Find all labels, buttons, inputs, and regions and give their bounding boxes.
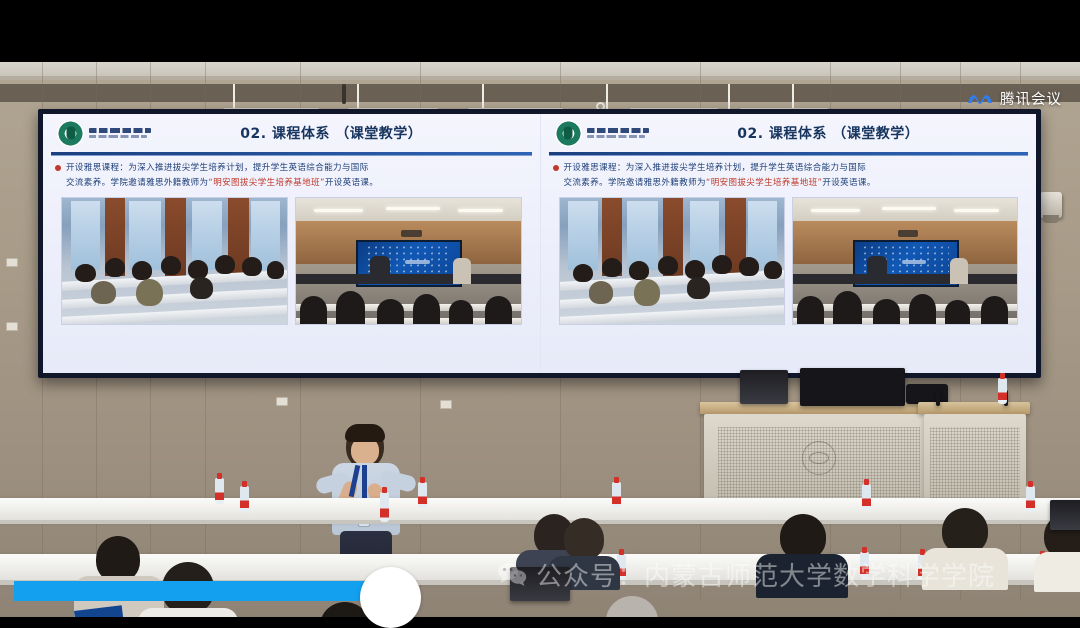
desk-equipment	[906, 384, 948, 404]
water-bottle	[998, 378, 1007, 404]
control-desk-front	[704, 414, 934, 506]
bullet-item: 开设雅思课程：为深入推进拔尖学生培养计划，提升学生英语综合能力与国际 交流素养。…	[553, 161, 1025, 191]
podium-top	[918, 402, 1030, 414]
hanging-microphone	[342, 84, 346, 104]
title-divider-thin	[51, 155, 532, 156]
bullet-line-2-highlight: “明安图拔尖学生培养基地班”	[706, 178, 822, 188]
video-progress-bar[interactable]	[14, 581, 380, 601]
audience-member	[590, 596, 674, 617]
water-bottle	[612, 482, 621, 508]
university-name-mark	[89, 128, 151, 138]
slide-body: 开设雅思课程：为深入推进拔尖学生培养计划，提升学生英语综合能力与国际 交流素养。…	[43, 152, 540, 325]
slide-body: 开设雅思课程：为深入推进拔尖学生培养计划，提升学生英语综合能力与国际 交流素养。…	[541, 152, 1037, 325]
wall-outlet	[6, 258, 18, 267]
letterbox-top	[0, 0, 1080, 62]
bullet-line-2-highlight: “明安图拔尖学生培养基地班”	[208, 178, 324, 188]
bullet-dot-icon	[55, 165, 61, 171]
photo-lecture-hall-screen	[295, 197, 522, 325]
watermark-text: 公众号：内蒙古师范大学数学科学学院	[536, 556, 995, 593]
lectern-podium	[924, 414, 1026, 510]
bullet-line-2b: 开设英语课。	[822, 178, 875, 188]
water-bottle	[240, 486, 249, 512]
slide-right: 02. 课程体系 （课堂教学） 开设雅思课程：为深入推进拔尖学生培养计划，提升学…	[540, 114, 1037, 373]
water-bottle	[1026, 486, 1035, 512]
tencent-meeting-badge: 腾讯会议	[967, 88, 1062, 109]
bullet-item: 开设雅思课程：为深入推进拔尖学生培养计划，提升学生英语综合能力与国际 交流素养。…	[55, 161, 528, 191]
tencent-meeting-logo-icon	[967, 91, 993, 106]
water-bottle	[862, 484, 871, 510]
bullet-line-2a: 交流素养。学院邀请雅思外籍教师为	[66, 178, 208, 188]
university-logo	[555, 120, 649, 147]
slide-photo-row	[55, 197, 528, 325]
photo-lecture-hall-screen	[792, 197, 1018, 325]
video-progress-knob[interactable]	[360, 567, 421, 628]
slide-header: 02. 课程体系 （课堂教学）	[43, 114, 540, 152]
wall-outlet	[6, 322, 18, 331]
wall-shadow-strip	[0, 84, 1080, 102]
wall-outlet	[276, 397, 288, 406]
slide-title: 02. 课程体系 （课堂教学）	[151, 123, 540, 143]
water-bottle	[418, 482, 427, 508]
podium-mic	[936, 390, 940, 406]
slide-photo-row	[553, 197, 1025, 325]
title-divider-thin	[549, 155, 1029, 156]
slide-left: 02. 课程体系 （课堂教学） 开设雅思课程：为深入推进拔尖学生培养计划，提升学…	[43, 114, 540, 373]
tencent-meeting-label: 腾讯会议	[1000, 88, 1062, 109]
slide-title: 02. 课程体系 （课堂教学）	[649, 123, 1037, 143]
university-name-mark	[587, 128, 649, 138]
bullet-line-1: 开设雅思课程：为深入推进拔尖学生培养计划，提升学生英语综合能力与国际	[564, 163, 867, 173]
photo-classroom-students	[559, 197, 785, 325]
wechat-watermark: 公众号：内蒙古师范大学数学科学学院	[497, 556, 995, 593]
water-bottle	[215, 478, 224, 504]
laptop[interactable]	[740, 370, 788, 404]
audience-laptop[interactable]	[1050, 500, 1080, 530]
conference-room-scene: 02. 课程体系 （课堂教学） 开设雅思课程：为深入推进拔尖学生培养计划，提升学…	[0, 62, 1080, 617]
water-bottle	[380, 492, 389, 522]
wall-speaker	[1040, 192, 1062, 218]
wall-outlet	[440, 400, 452, 409]
wechat-icon	[497, 562, 527, 587]
video-frame: 02. 课程体系 （课堂教学） 开设雅思课程：为深入推进拔尖学生培养计划，提升学…	[0, 0, 1080, 617]
bullet-line-2a: 交流素养。学院邀请雅思外籍教师为	[564, 178, 706, 188]
projection-screen: 02. 课程体系 （课堂教学） 开设雅思课程：为深入推进拔尖学生培养计划，提升学…	[38, 109, 1041, 378]
university-seal-icon	[555, 120, 582, 147]
slide-header: 02. 课程体系 （课堂教学）	[541, 114, 1037, 152]
bullet-text: 开设雅思课程：为深入推进拔尖学生培养计划，提升学生英语综合能力与国际 交流素养。…	[66, 161, 378, 191]
control-desk-monitor[interactable]	[800, 368, 905, 406]
bullet-line-1: 开设雅思课程：为深入推进拔尖学生培养计划，提升学生英语综合能力与国际	[66, 163, 369, 173]
photo-classroom-students	[61, 197, 288, 325]
bullet-line-2b: 开设英语课。	[325, 178, 378, 188]
ceiling	[0, 62, 1080, 76]
university-seal-icon	[57, 120, 84, 147]
bullet-text: 开设雅思课程：为深入推进拔尖学生培养计划，提升学生英语综合能力与国际 交流素养。…	[564, 161, 876, 191]
university-logo	[57, 120, 151, 147]
university-emblem	[802, 441, 836, 475]
bullet-dot-icon	[553, 165, 559, 171]
